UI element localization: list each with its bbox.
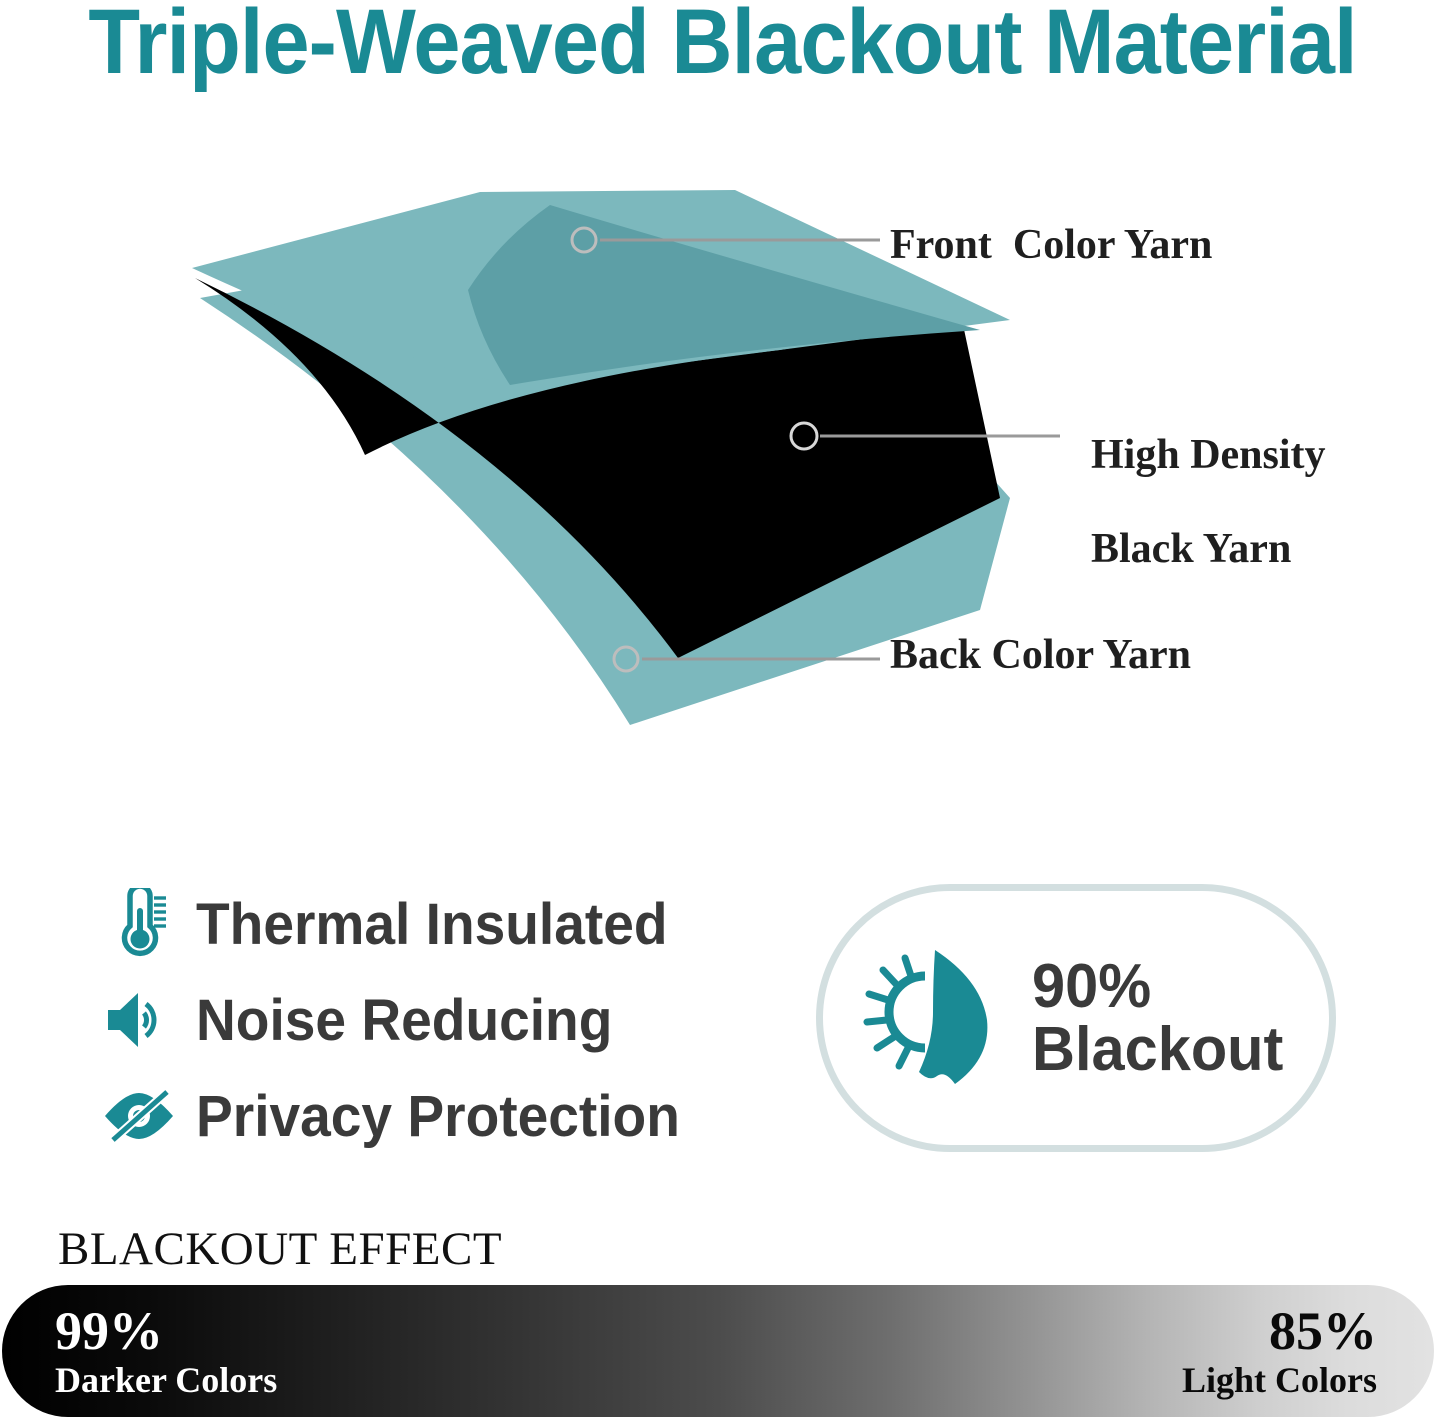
light-colors-label: Light Colors — [1182, 1362, 1377, 1398]
feature-label-noise-reducing: Noise Reducing — [196, 987, 612, 1054]
label-high-density-black-yarn: High Density Black Yarn — [1070, 385, 1326, 573]
blackout-word: Blackout — [1032, 1018, 1283, 1081]
feature-item-privacy-protection: Privacy Protection — [100, 1070, 760, 1162]
label-black-line-2: Black Yarn — [1091, 526, 1291, 572]
blackout-effect-light-colors: 85% Light Colors — [1182, 1304, 1377, 1398]
feature-list: Thermal Insulated Noise Reducing Privacy… — [100, 878, 760, 1166]
feature-label-thermal-insulated: Thermal Insulated — [196, 891, 668, 958]
feature-label-privacy-protection: Privacy Protection — [196, 1083, 680, 1150]
label-front-color-yarn: Front Color Yarn — [890, 222, 1212, 269]
label-back-color-yarn: Back Color Yarn — [890, 632, 1191, 679]
blackout-percent: 90% — [1032, 955, 1283, 1018]
darker-colors-percent: 99% — [55, 1304, 277, 1358]
thermometer-icon — [100, 885, 178, 963]
sun-curtain-icon — [858, 938, 1008, 1098]
blackout-badge-text: 90% Blackout — [1032, 955, 1283, 1081]
light-colors-percent: 85% — [1182, 1304, 1377, 1358]
label-black-line-1: High Density — [1091, 432, 1326, 478]
blackout-effect-heading: BLACKOUT EFFECT — [58, 1222, 502, 1276]
feature-item-thermal-insulated: Thermal Insulated — [100, 878, 760, 970]
eye-slash-icon — [100, 1077, 178, 1155]
blackout-badge: 90% Blackout — [816, 884, 1336, 1152]
feature-item-noise-reducing: Noise Reducing — [100, 974, 760, 1066]
page-title: Triple-Weaved Blackout Material — [58, 0, 1387, 91]
darker-colors-label: Darker Colors — [55, 1362, 277, 1398]
speaker-sound-icon — [100, 981, 178, 1059]
blackout-effect-darker-colors: 99% Darker Colors — [55, 1304, 277, 1398]
